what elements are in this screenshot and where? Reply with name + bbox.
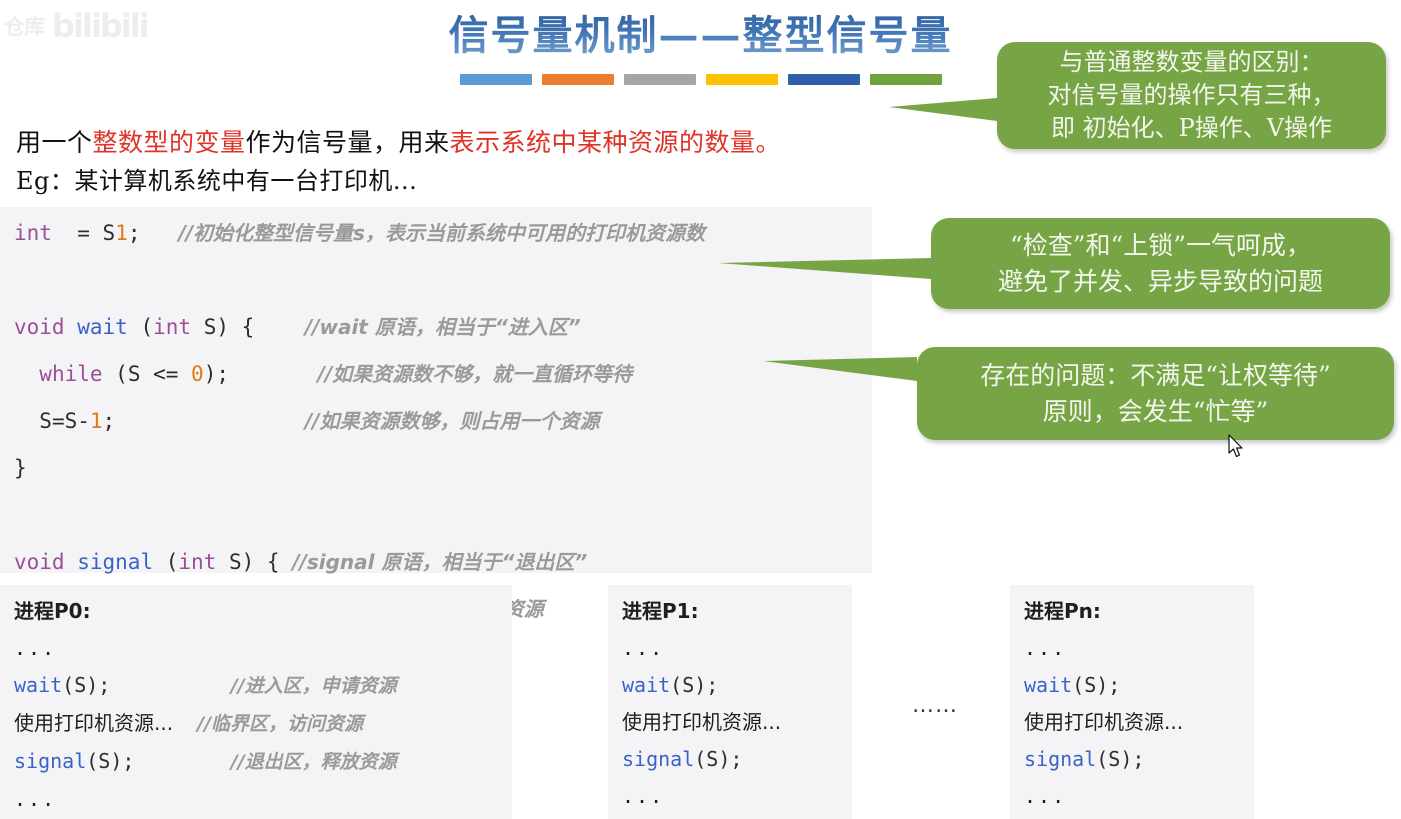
intro-text-c: 作为信号量，用来 xyxy=(246,128,450,157)
callout-1-line-1: 与普通整数变量的区别： xyxy=(1007,46,1376,79)
intro-line-2: Eg：某计算机系统中有一台打印机... xyxy=(16,162,946,200)
code-line: void signal (int S) { //signal 原语，相当于“退出… xyxy=(0,539,872,586)
process-code-line: ... xyxy=(622,630,852,667)
underline-bar-4 xyxy=(706,74,778,85)
process-code-line: signal(S); xyxy=(622,741,852,778)
process-header: 进程P0: xyxy=(14,593,512,630)
process-code-line: wait(S); xyxy=(622,667,852,704)
callout-busy-waiting-problem: 存在的问题：不满足“让权等待” 原则，会发生“忙等” xyxy=(917,347,1394,440)
intro-text-highlight-2: 表示系统中某种资源的数量。 xyxy=(450,128,782,157)
process-panel-pn: 进程Pn:...wait(S);使用打印机资源...signal(S);... xyxy=(1010,585,1254,819)
callout-1-line-2: 对信号量的操作只有三种， xyxy=(1007,79,1376,112)
process-code-line: ... xyxy=(622,778,852,815)
callout-3-line-1: 存在的问题：不满足“让权等待” xyxy=(927,358,1384,394)
process-code-line: signal(S); //退出区，释放资源 xyxy=(14,743,512,781)
code-line-blank xyxy=(0,492,872,539)
callout-tail-icon xyxy=(763,357,917,381)
process-code-line: wait(S); xyxy=(1024,667,1254,704)
process-panel-p1: 进程P1:...wait(S);使用打印机资源...signal(S);... xyxy=(608,585,852,819)
callout-2-line-1: “检查”和“上锁”一气呵成， xyxy=(941,228,1380,264)
callout-check-and-lock: “检查”和“上锁”一气呵成， 避免了并发、异步导致的问题 xyxy=(931,218,1390,309)
process-panel-p0: 进程P0:...wait(S); //进入区，申请资源使用打印机资源... //… xyxy=(0,585,512,819)
intro-line-1: 用一个整数型的变量作为信号量，用来表示系统中某种资源的数量。 xyxy=(16,124,946,162)
process-code-line: 使用打印机资源... xyxy=(1024,704,1254,741)
callout-1-line-3: 即 初始化、P操作、V操作 xyxy=(1007,112,1376,145)
title-underline-bars xyxy=(460,74,942,85)
underline-bar-2 xyxy=(542,74,614,85)
callout-2-line-2: 避免了并发、异步导致的问题 xyxy=(941,264,1380,300)
code-line: S=S-1; //如果资源数够，则占用一个资源 xyxy=(0,398,872,445)
code-line: while (S <= 0); //如果资源数不够，就一直循环等待 xyxy=(0,351,872,398)
page-title: 信号量机制——整型信号量 xyxy=(449,8,953,64)
intro-paragraph: 用一个整数型的变量作为信号量，用来表示系统中某种资源的数量。 Eg：某计算机系统… xyxy=(16,124,946,200)
callout-tail-icon xyxy=(718,258,931,279)
underline-bar-5 xyxy=(788,74,860,85)
underline-bar-3 xyxy=(624,74,696,85)
underline-bar-6 xyxy=(870,74,942,85)
callout-3-line-2: 原则，会发生“忙等” xyxy=(927,394,1384,430)
process-header: 进程P1: xyxy=(622,593,852,630)
code-line: void wait (int S) { //wait 原语，相当于“进入区” xyxy=(0,304,872,351)
process-code-line: signal(S); xyxy=(1024,741,1254,778)
intro-text-highlight-1: 整数型的变量 xyxy=(93,128,246,157)
callout-difference-from-int: 与普通整数变量的区别： 对信号量的操作只有三种， 即 初始化、P操作、V操作 xyxy=(997,42,1386,149)
process-header: 进程Pn: xyxy=(1024,593,1254,630)
code-line: int = S1; //初始化整型信号量s，表示当前系统中可用的打印机资源数 xyxy=(0,210,872,257)
process-code-line: ... xyxy=(1024,630,1254,667)
underline-bar-1 xyxy=(460,74,532,85)
process-code-line: 使用打印机资源... //临界区，访问资源 xyxy=(14,705,512,743)
process-code-line: 使用打印机资源... xyxy=(622,704,852,741)
process-ellipsis: …… xyxy=(912,693,958,718)
process-code-line: ... xyxy=(14,630,512,667)
process-code-line: ... xyxy=(1024,778,1254,815)
process-code-line: ... xyxy=(14,781,512,818)
intro-text-a: 用一个 xyxy=(16,128,93,157)
code-line: } xyxy=(0,445,872,492)
callout-tail-icon xyxy=(889,98,997,121)
process-code-line: wait(S); //进入区，申请资源 xyxy=(14,667,512,705)
